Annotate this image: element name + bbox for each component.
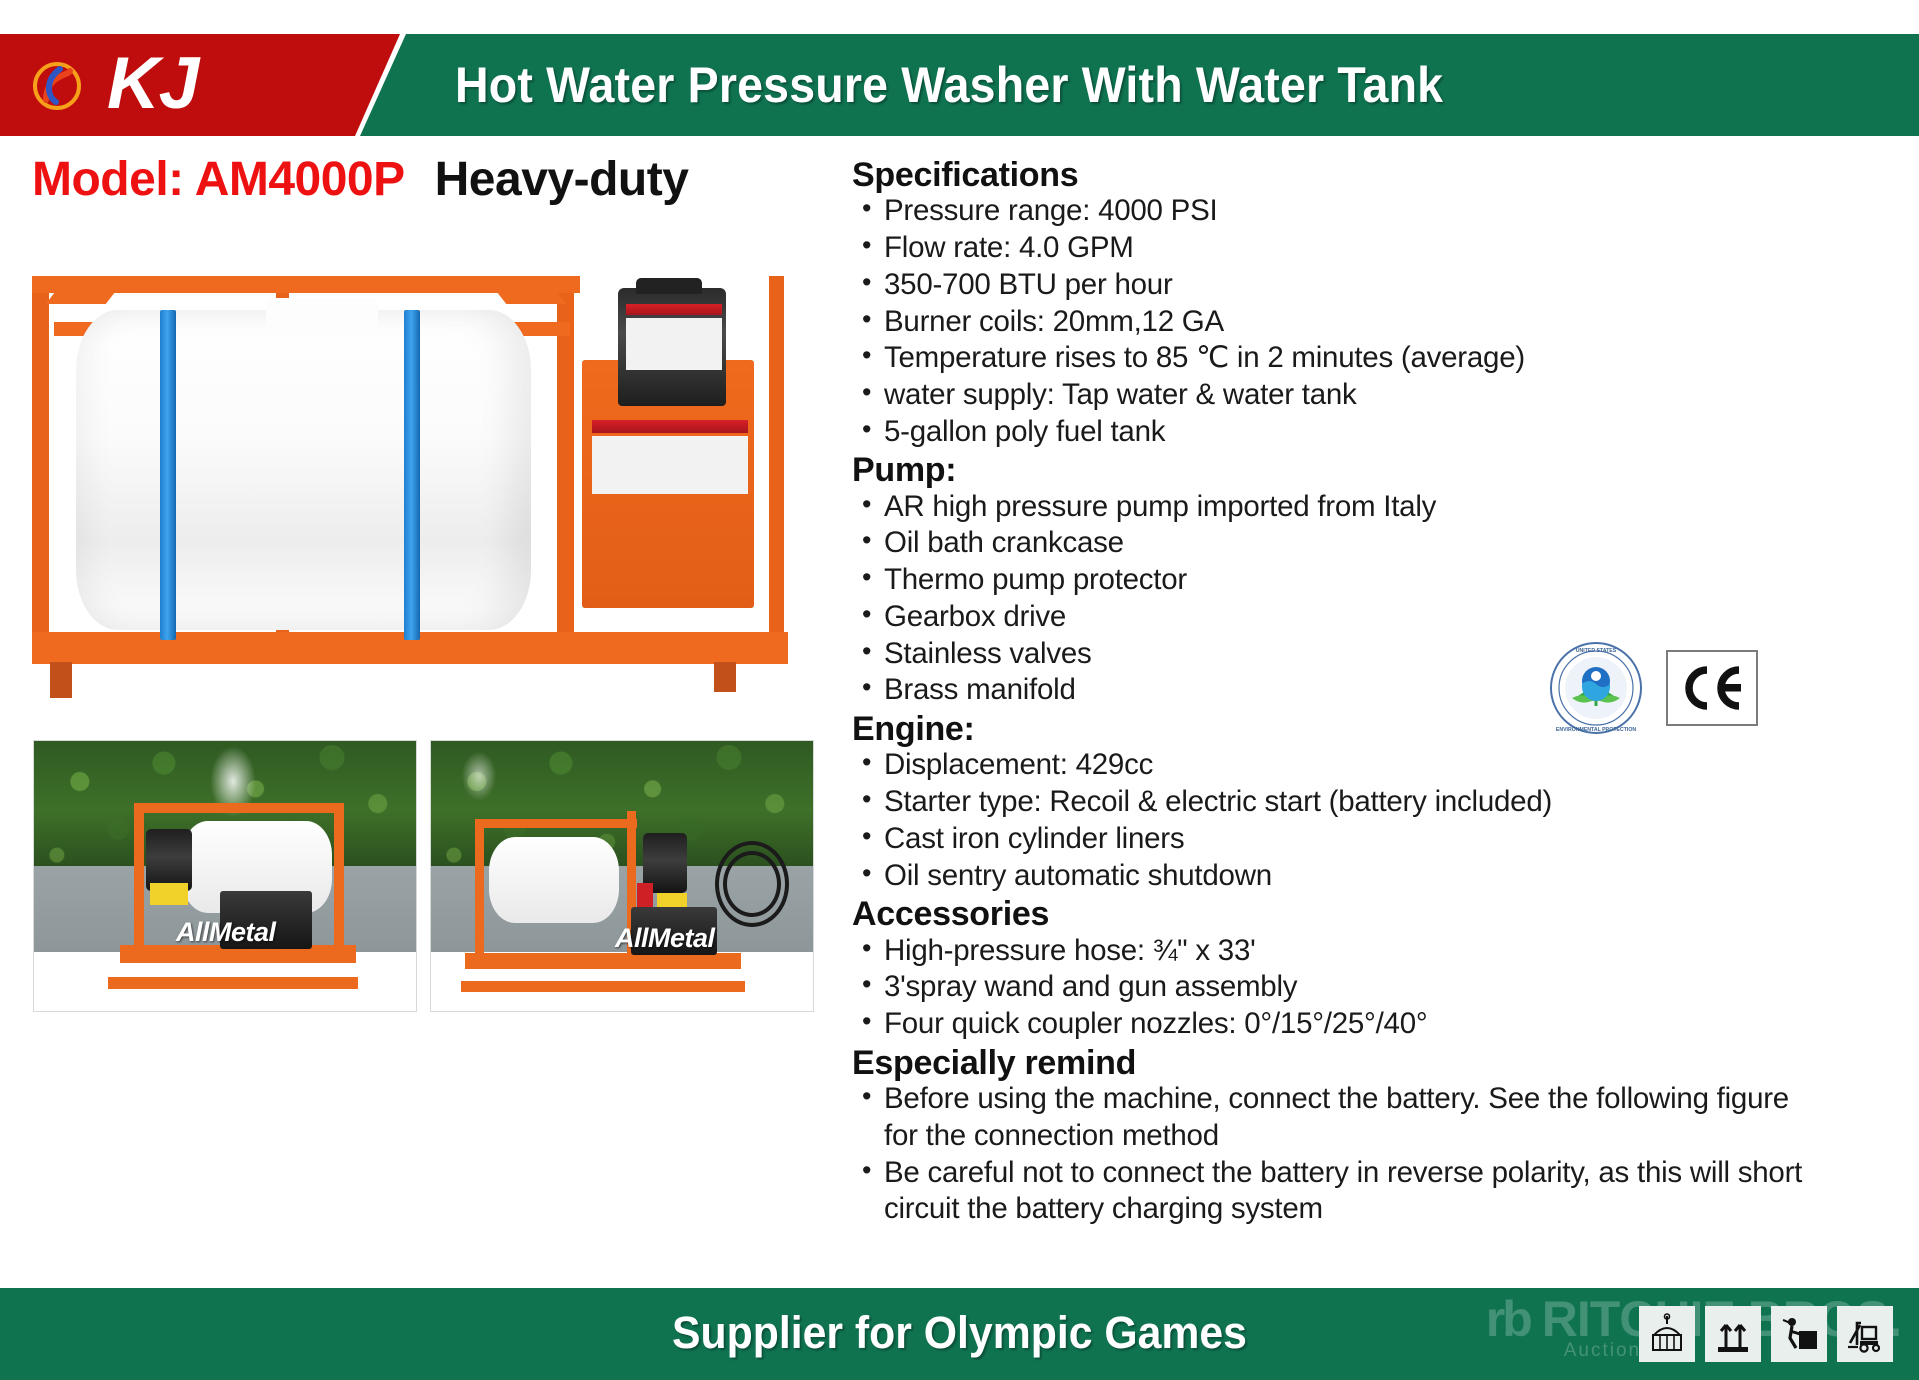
list-item: 3'spray wand and gun assembly — [858, 969, 1902, 1006]
thumb2-hose-coil-inner — [723, 851, 781, 917]
list-item: Pressure range: 4000 PSI — [858, 193, 1902, 230]
forklift-icon — [1837, 1306, 1893, 1362]
thumb2-machine-brand: AllMetal — [615, 923, 715, 954]
washer-brand-strip — [592, 420, 748, 433]
thumb1-frame-right — [334, 803, 344, 953]
thumb1-skid-base — [108, 977, 358, 989]
list-item: 350-700 BTU per hour — [858, 267, 1902, 304]
frame-foot-left — [50, 662, 72, 698]
washer-warning-banner — [626, 304, 722, 315]
list-item: Flow rate: 4.0 GPM — [858, 230, 1902, 267]
list-item: Oil sentry automatic shutdown — [858, 858, 1902, 895]
frame-post-right — [769, 276, 784, 636]
list-item: Oil bath crankcase — [858, 525, 1902, 562]
strap-right — [404, 310, 420, 640]
thumb1-machine-brand: AllMetal — [176, 917, 276, 948]
this-way-up-icon — [1705, 1306, 1761, 1362]
list-item: Temperature rises to 85 ℃ in 2 minutes (… — [858, 340, 1902, 377]
strap-left — [160, 310, 176, 640]
kj-logo-icon — [30, 61, 84, 113]
certification-logos: UNITED STATES ENVIRONMENTAL PROTECTION — [1548, 640, 1758, 736]
list-item: 5-gallon poly fuel tank — [858, 414, 1902, 451]
thumb2-skid-base — [461, 981, 745, 992]
brand-text: KJ — [107, 42, 198, 125]
list-item: Four quick coupler nozzles: 0°/15°/25°/4… — [858, 1006, 1902, 1043]
product-photo-thumb-1: AllMetal — [33, 740, 417, 1012]
list-item: water supply: Tap water & water tank — [858, 377, 1902, 414]
section-list-engine: Displacement: 429cc Starter type: Recoil… — [858, 747, 1902, 894]
sling-here-icon — [1639, 1306, 1695, 1362]
thumb2-water-tank — [489, 837, 619, 923]
list-item: Be careful not to connect the battery in… — [858, 1155, 1858, 1228]
epa-seal-icon: UNITED STATES ENVIRONMENTAL PROTECTION — [1548, 640, 1644, 736]
washer-warning-panel — [626, 318, 722, 370]
section-heading-especially-remind: Especially remind — [852, 1046, 1902, 1081]
frame-post-left — [32, 276, 49, 664]
ce-mark-icon — [1666, 650, 1758, 726]
list-item: Burner coils: 20mm,12 GA — [858, 304, 1902, 341]
washer-fuel-cap — [636, 278, 702, 294]
shipping-icon-group — [1639, 1306, 1893, 1362]
water-tank-neck — [266, 298, 378, 326]
frame-gusset-right — [498, 293, 567, 304]
thumb1-frame-top — [134, 803, 344, 813]
thumb2-frame-left — [475, 819, 484, 957]
list-item: Thermo pump protector — [858, 562, 1902, 599]
section-heading-specifications: Specifications — [852, 158, 1902, 193]
page-header: KJ Hot Water Pressure Washer With Water … — [0, 34, 1919, 136]
do-not-stack-icon — [1771, 1306, 1827, 1362]
list-item: AR high pressure pump imported from Ital… — [858, 489, 1902, 526]
model-duty-label: Heavy-duty — [435, 153, 689, 206]
list-item: Displacement: 429cc — [858, 747, 1902, 784]
water-tank — [76, 310, 531, 630]
washer-instruction-panel — [592, 436, 748, 494]
section-list-especially-remind: Before using the machine, connect the ba… — [858, 1081, 1902, 1228]
page-footer: rbRITCHIE BROS. Auctioneers Supplier for… — [0, 1288, 1919, 1380]
thumb1-fuel-tank — [146, 829, 192, 891]
model-number: Model: AM4000P — [32, 153, 405, 206]
section-list-specifications: Pressure range: 4000 PSI Flow rate: 4.0 … — [858, 193, 1902, 450]
page-title: Hot Water Pressure Washer With Water Tan… — [455, 56, 1785, 114]
thumb2-frame-top — [475, 819, 637, 828]
list-item: Starter type: Recoil & electric start (b… — [858, 784, 1902, 821]
product-photo-main — [14, 248, 814, 708]
list-item: Cast iron cylinder liners — [858, 821, 1902, 858]
product-photo-thumb-2: AllMetal — [430, 740, 814, 1012]
list-item: High-pressure hose: ¾" x 33' — [858, 933, 1902, 970]
svg-text:ENVIRONMENTAL PROTECTION: ENVIRONMENTAL PROTECTION — [1556, 727, 1636, 733]
thumb1-frame-left — [134, 803, 144, 953]
list-item: Gearbox drive — [858, 599, 1902, 636]
section-heading-pump: Pump: — [852, 453, 1902, 488]
sky-gap — [462, 752, 496, 801]
frame-gusset-left — [46, 293, 115, 304]
frame-rail-top — [32, 276, 580, 293]
svg-text:UNITED STATES: UNITED STATES — [1576, 648, 1617, 654]
thumb1-caution-label — [150, 883, 188, 905]
list-item: Before using the machine, connect the ba… — [858, 1081, 1813, 1154]
section-heading-accessories: Accessories — [852, 897, 1902, 932]
section-list-accessories: High-pressure hose: ¾" x 33' 3'spray wan… — [858, 933, 1902, 1043]
model-line: Model: AM4000PHeavy-duty — [32, 152, 688, 207]
thumb2-frame-bottom — [465, 953, 741, 969]
footer-title: Supplier for Olympic Games — [48, 1307, 1871, 1359]
frame-foot-right — [714, 662, 736, 692]
product-spec-sheet: KJ Hot Water Pressure Washer With Water … — [0, 0, 1919, 1380]
